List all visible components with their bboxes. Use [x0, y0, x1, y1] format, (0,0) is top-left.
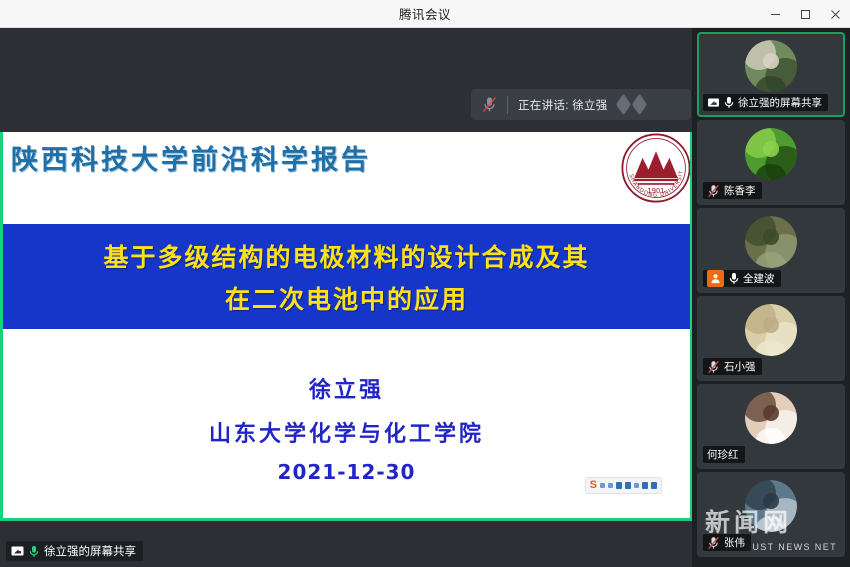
- window-titlebar: 腾讯会议: [0, 0, 850, 28]
- slide-title-banner: 基于多级结构的电极材料的设计合成及其 在二次电池中的应用: [3, 224, 690, 329]
- mic-on-icon: [729, 272, 739, 285]
- participant-name: 全建波: [743, 271, 775, 286]
- slide-header: 陕西科技大学前沿科学报告 1901 SHANDONG UNIVERSITY: [3, 132, 690, 224]
- ime-icon-3: [616, 482, 622, 489]
- participant-name-bar: 何珍红: [703, 446, 745, 463]
- slide-title-line-1: 基于多级结构的电极材料的设计合成及其: [103, 238, 589, 274]
- participant-name-bar: 陈香李: [703, 182, 762, 199]
- close-button[interactable]: [820, 0, 850, 28]
- share-border-left: [0, 132, 3, 521]
- presentation-date: 2021-12-30: [278, 460, 416, 484]
- participant-tile-5[interactable]: 何珍红: [697, 384, 845, 469]
- screen-share-status-label: 徐立强的屏幕共享: [6, 541, 143, 561]
- presenter-name: 徐立强: [309, 372, 384, 404]
- minimize-button[interactable]: [760, 0, 790, 28]
- mic-muted-icon: [707, 184, 720, 198]
- avatar-xu-liqiang: [745, 40, 797, 92]
- participant-name-bar: 石小强: [703, 358, 762, 375]
- avatar-chen-xiangli: [745, 128, 797, 180]
- participant-tile-1[interactable]: 徐立强的屏幕共享: [697, 32, 845, 117]
- mic-on-icon: [724, 96, 734, 109]
- participant-tile-2[interactable]: 陈香李: [697, 120, 845, 205]
- window-controls: [760, 0, 850, 28]
- shandong-university-logo: 1901 SHANDONG UNIVERSITY: [614, 132, 690, 210]
- avatar-quan-jianbo: [745, 216, 797, 268]
- slide-header-title: 陕西科技大学前沿科学报告: [11, 138, 371, 177]
- ime-icon-7: [651, 482, 657, 489]
- sogou-logo-letter: S: [590, 480, 597, 491]
- ime-icon-5: [634, 483, 639, 488]
- participant-name: 陈香李: [724, 183, 756, 198]
- window-title: 腾讯会议: [399, 4, 451, 23]
- slide-title-line-2: 在二次电池中的应用: [225, 280, 468, 316]
- participant-name-bar: 全建波: [703, 270, 781, 287]
- avatar-he-zhenhong: [745, 392, 797, 444]
- avatar-zhang-wei: [745, 480, 797, 532]
- participant-tile-4[interactable]: 石小强: [697, 296, 845, 381]
- participant-tile-3[interactable]: 全建波: [697, 208, 845, 293]
- speaking-text: 正在讲话: 徐立强: [508, 97, 608, 113]
- participant-name-bar: 徐立强的屏幕共享: [703, 94, 828, 111]
- audio-wave-icon: [617, 98, 646, 111]
- ime-icon-2: [608, 483, 613, 488]
- participant-name: 石小强: [724, 359, 756, 374]
- participant-name: 何珍红: [707, 447, 739, 462]
- avatar-shi-xiaoqiang: [745, 304, 797, 356]
- participant-tile-6[interactable]: 新闻网SUST NEWS NET 张伟: [697, 472, 845, 557]
- ime-icon-6: [642, 482, 648, 489]
- mic-muted-icon: [471, 96, 507, 113]
- shared-screen-stage[interactable]: 正在讲话: 徐立强 陕西科技大学前沿科学报告 1901: [0, 28, 692, 567]
- maximize-button[interactable]: [790, 0, 820, 28]
- ime-icon-4: [625, 482, 631, 489]
- watermark-english: SUST NEWS NET: [745, 542, 837, 552]
- speaking-indicator: 正在讲话: 徐立强: [471, 89, 691, 120]
- screen-share-icon: [707, 98, 720, 108]
- screen-share-icon: [11, 546, 24, 557]
- mic-muted-icon: [707, 360, 720, 374]
- presentation-slide: 陕西科技大学前沿科学报告 1901 SHANDONG UNIVERSITY: [3, 132, 690, 518]
- slide-presenter-block: 徐立强 山东大学化学与化工学院 2021-12-30: [3, 372, 690, 484]
- sogou-input-toolbar-logo: S: [585, 477, 662, 494]
- participants-panel[interactable]: 徐立强的屏幕共享 陈香李 全建波: [692, 28, 850, 567]
- mic-muted-icon: [707, 536, 720, 550]
- tencent-meeting-window: 腾讯会议 正在讲话:: [0, 0, 850, 567]
- host-badge-icon: [707, 270, 724, 287]
- participant-name-bar: 张伟: [703, 534, 751, 551]
- mic-on-icon: [29, 545, 39, 558]
- ime-icon-1: [600, 483, 605, 488]
- screen-share-label-text: 徐立强的屏幕共享: [44, 543, 136, 559]
- participant-name: 张伟: [724, 535, 745, 550]
- presenter-organization: 山东大学化学与化工学院: [209, 416, 484, 448]
- participant-name: 徐立强的屏幕共享: [738, 95, 822, 110]
